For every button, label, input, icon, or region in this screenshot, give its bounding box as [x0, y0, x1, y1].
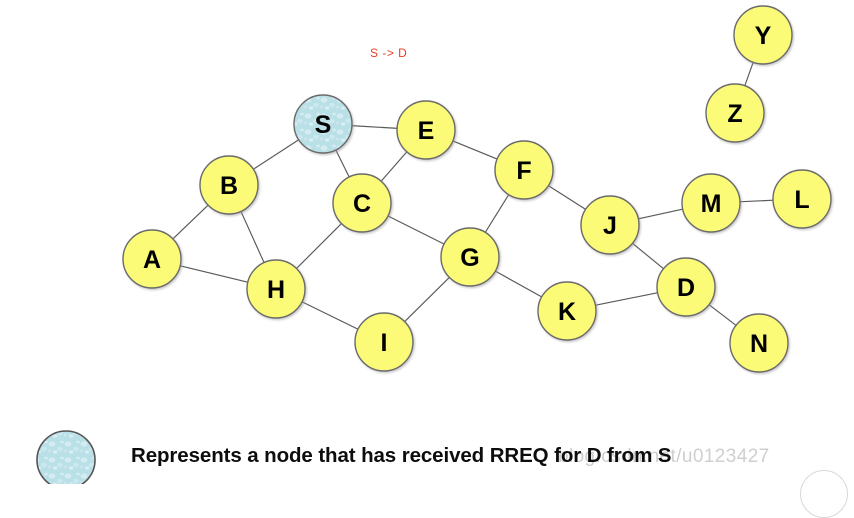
- graph-node-j[interactable]: J: [581, 196, 639, 254]
- node-circle-j: [581, 196, 639, 254]
- graph-node-y[interactable]: Y: [734, 6, 792, 64]
- node-circle-f: [495, 141, 553, 199]
- graph-edge-m-l: [739, 200, 774, 202]
- graph-edge-s-c: [335, 149, 349, 178]
- graph-node-s[interactable]: S: [294, 95, 352, 153]
- node-circle-m: [682, 174, 740, 232]
- graph-node-z[interactable]: Z: [706, 84, 764, 142]
- graph-edge-g-k: [494, 271, 542, 298]
- graph-edge-k-d: [594, 293, 658, 306]
- graph-node-e[interactable]: E: [397, 101, 455, 159]
- node-circle-s: [294, 95, 352, 153]
- node-circle-a: [123, 230, 181, 288]
- graph-edge-f-j: [548, 185, 587, 210]
- graph-node-l[interactable]: L: [773, 170, 831, 228]
- graph-edge-e-f: [452, 141, 498, 160]
- node-circle-e: [397, 101, 455, 159]
- graph-node-m[interactable]: M: [682, 174, 740, 232]
- graph-edge-j-d: [632, 243, 665, 270]
- graph-edge-s-e: [351, 126, 398, 129]
- node-circle-l: [773, 170, 831, 228]
- graph-edge-b-h: [241, 211, 265, 264]
- legend-caption: Represents a node that has received RREQ…: [131, 444, 671, 468]
- graph-edge-c-h: [296, 223, 342, 269]
- graph-edge-g-f: [485, 194, 509, 233]
- graph-edge-a-h: [179, 266, 249, 283]
- graph-node-n[interactable]: N: [730, 314, 788, 372]
- graph-node-g[interactable]: G: [441, 228, 499, 286]
- watermark-circle-icon: [800, 470, 848, 518]
- node-circle-i: [355, 313, 413, 371]
- graph-node-i[interactable]: I: [355, 313, 413, 371]
- graph-node-a[interactable]: A: [123, 230, 181, 288]
- graph-node-b[interactable]: B: [200, 156, 258, 214]
- node-circle-g: [441, 228, 499, 286]
- slide-canvas: S -> D SEBCFAHGJMLIKDNYZ: [0, 0, 854, 484]
- graph-node-d[interactable]: D: [657, 258, 715, 316]
- node-circle-n: [730, 314, 788, 372]
- graph-edge-c-g: [387, 216, 445, 245]
- graph-node-h[interactable]: H: [247, 260, 305, 318]
- graph-edge-i-g: [404, 277, 450, 323]
- graph-node-f[interactable]: F: [495, 141, 553, 199]
- node-circle-z: [706, 84, 764, 142]
- node-circle-k: [538, 282, 596, 340]
- graph-node-c[interactable]: C: [333, 174, 391, 232]
- graph-edge-h-i: [301, 301, 359, 329]
- node-circle-h: [247, 260, 305, 318]
- graph-edge-d-n: [708, 304, 737, 326]
- graph-edge-b-a: [172, 204, 209, 239]
- node-circle-c: [333, 174, 391, 232]
- graph-edge-y-z: [744, 61, 753, 86]
- network-graph: SEBCFAHGJMLIKDNYZ: [0, 0, 854, 484]
- graph-edge-j-m: [637, 209, 683, 219]
- node-circle-b: [200, 156, 258, 214]
- graph-node-k[interactable]: K: [538, 282, 596, 340]
- node-circle-y: [734, 6, 792, 64]
- graph-edge-e-c: [380, 151, 407, 182]
- node-circle-d: [657, 258, 715, 316]
- graph-edge-s-b: [252, 139, 299, 170]
